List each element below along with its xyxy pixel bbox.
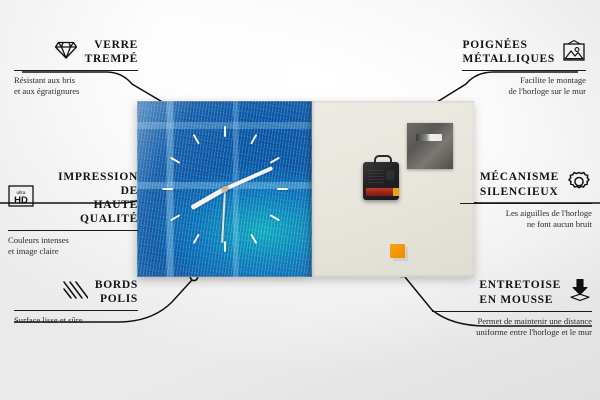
callout-impression-haute-qualite: ultra HD IMPRESSION DE HAUTE QUALITÉ Cou… — [8, 170, 138, 258]
callout-divider — [460, 203, 592, 204]
callout-header: ENTRETOISE EN MOUSSE — [432, 278, 592, 307]
callout-title-line1: POIGNÉES — [463, 38, 555, 52]
callout-desc-line2: de l'horloge sur le mur — [462, 86, 586, 97]
callout-desc-line1: Résistant aux bris — [14, 75, 138, 86]
callout-desc-line2: et aux égratignures — [14, 86, 138, 97]
callout-title-line2: MÉTALLIQUES — [463, 52, 555, 66]
callout-description: Surface lisse et sûre — [14, 315, 138, 326]
callout-title: MÉCANISME SILENCIEUX — [480, 170, 559, 198]
callout-entretoise-en-mousse: ENTRETOISE EN MOUSSE Permet de maintenir… — [432, 278, 592, 339]
callout-desc-line1: Permet de maintenir une distance — [432, 316, 592, 327]
callout-title: IMPRESSION DE HAUTE QUALITÉ — [41, 170, 138, 226]
callout-divider — [14, 310, 138, 311]
callout-divider — [462, 70, 586, 71]
callout-mecanisme-silencieux: MÉCANISME SILENCIEUX Les aiguilles de l'… — [460, 170, 592, 231]
callout-desc-line2: uniforme entre l'horloge et le mur — [432, 327, 592, 338]
callout-description: Facilite le montage de l'horloge sur le … — [462, 75, 586, 98]
callout-description: Permet de maintenir une distance uniform… — [432, 316, 592, 339]
callout-title-line2: HAUTE QUALITÉ — [41, 198, 138, 226]
foam-spacer — [390, 244, 405, 258]
callout-description: Les aiguilles de l'horloge ne font aucun… — [460, 208, 592, 231]
callout-desc-line1: Couleurs intenses — [8, 235, 138, 246]
callout-bords-polis: BORDS POLIS Surface lisse et sûre — [14, 278, 138, 326]
infographic-root: VERRE TREMPÉ Résistant aux bris et aux é… — [0, 0, 600, 400]
glass-edge — [137, 101, 312, 277]
callout-title-line1: VERRE — [85, 38, 138, 52]
callout-title-line1: MÉCANISME — [480, 170, 559, 184]
callout-header: BORDS POLIS — [14, 278, 138, 306]
callout-title-line2: TREMPÉ — [85, 52, 138, 66]
clock-mechanism — [363, 162, 399, 200]
battery-terminal — [393, 188, 399, 196]
diamond-icon — [54, 40, 78, 65]
mechanism-knob — [386, 170, 394, 180]
callout-header: MÉCANISME SILENCIEUX — [460, 170, 592, 199]
mechanism-vent — [368, 169, 384, 183]
callout-poignees-metalliques: POIGNÉES MÉTALLIQUES Facilite le montage… — [462, 38, 586, 98]
clock-front-face — [137, 101, 312, 277]
callout-desc-line2: et image claire — [8, 246, 138, 257]
callout-description: Couleurs intenses et image claire — [8, 235, 138, 258]
callout-divider — [8, 230, 138, 231]
callout-header: ultra HD IMPRESSION DE HAUTE QUALITÉ — [8, 170, 138, 226]
callout-title-line2: POLIS — [95, 292, 138, 306]
battery — [366, 188, 396, 196]
hanger-slot — [416, 134, 442, 141]
callout-header: POIGNÉES MÉTALLIQUES — [462, 38, 586, 66]
gear-icon — [566, 170, 592, 199]
callout-description: Résistant aux bris et aux égratignures — [14, 75, 138, 98]
callout-header: VERRE TREMPÉ — [14, 38, 138, 66]
diagonal-lines-icon — [62, 279, 88, 305]
callout-title: BORDS POLIS — [95, 278, 138, 306]
callout-title-line2: EN MOUSSE — [479, 293, 561, 307]
callout-title: ENTRETOISE EN MOUSSE — [479, 278, 561, 306]
callout-divider — [432, 311, 592, 312]
hanger-plate-icon — [407, 123, 453, 169]
picture-frame-hanger-icon — [562, 39, 586, 66]
clock-back-panel — [312, 101, 474, 277]
callout-title: VERRE TREMPÉ — [85, 38, 138, 66]
callout-verre-trempe: VERRE TREMPÉ Résistant aux bris et aux é… — [14, 38, 138, 98]
callout-title-line1: BORDS — [95, 278, 138, 292]
callout-desc-line1: Surface lisse et sûre — [14, 315, 138, 326]
callout-divider — [14, 70, 138, 71]
svg-text:HD: HD — [14, 195, 28, 206]
callout-desc-line2: ne font aucun bruit — [460, 219, 592, 230]
callout-title-line1: IMPRESSION DE — [41, 170, 138, 198]
callout-title-line2: SILENCIEUX — [480, 185, 559, 199]
hanging-loop — [374, 155, 392, 166]
callout-title: POIGNÉES MÉTALLIQUES — [463, 38, 555, 66]
down-arrow-layers-icon — [568, 278, 592, 307]
product-photo — [137, 101, 474, 277]
ultra-hd-icon: ultra HD — [8, 185, 34, 212]
callout-desc-line1: Les aiguilles de l'horloge — [460, 208, 592, 219]
callout-desc-line1: Facilite le montage — [462, 75, 586, 86]
callout-title-line1: ENTRETOISE — [479, 278, 561, 292]
